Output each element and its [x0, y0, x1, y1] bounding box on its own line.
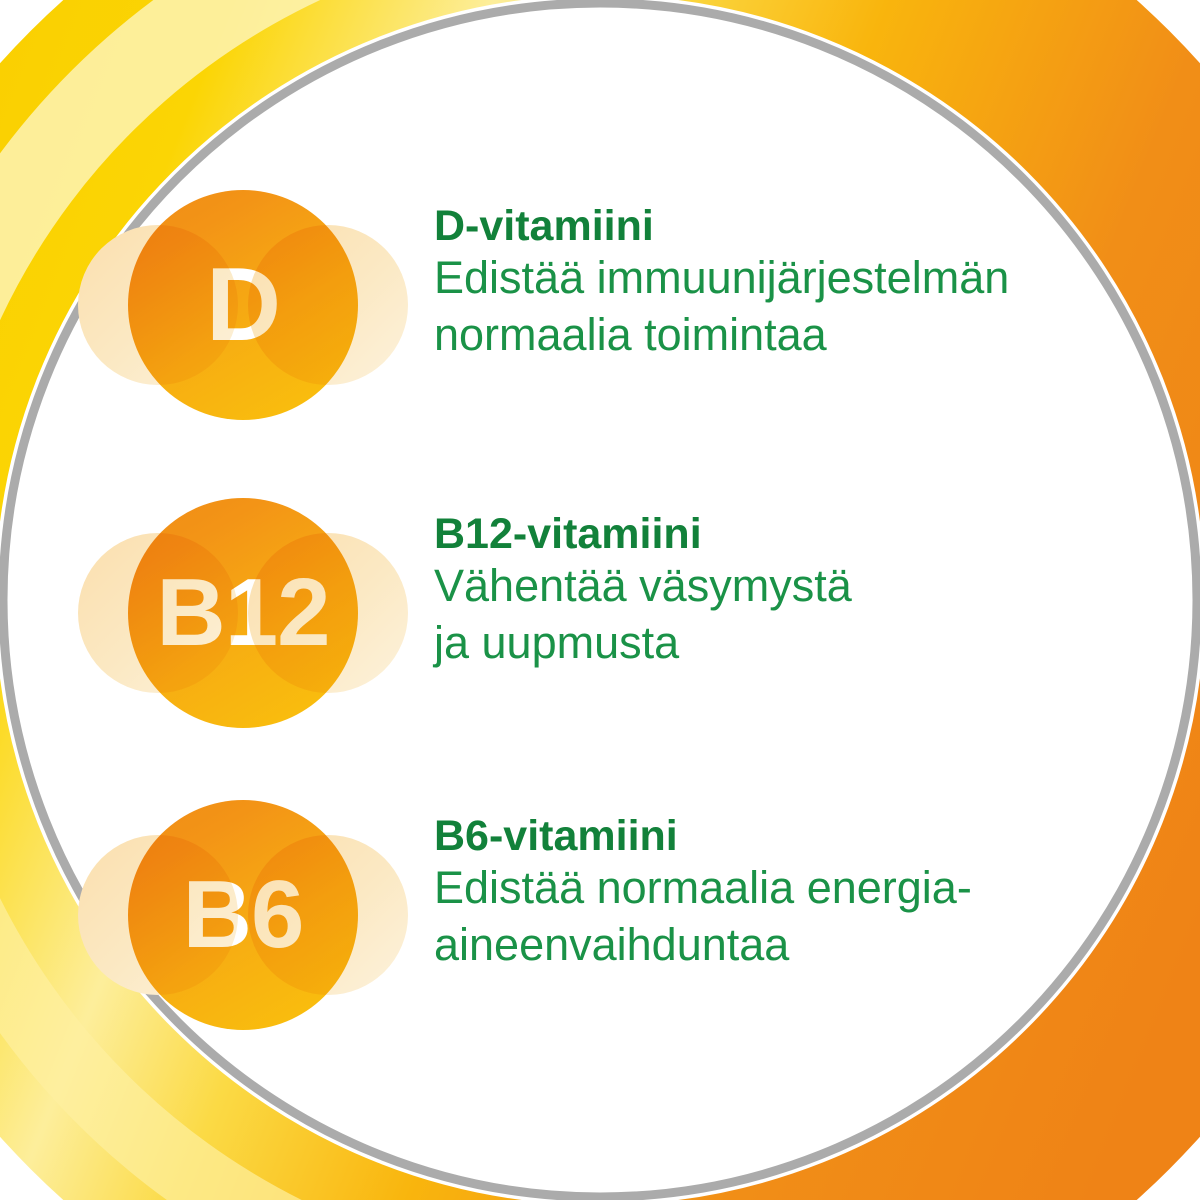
vitamin-benefits-graphic: D D-vitamiini Edistää immuunijärjestelmä…	[0, 0, 1200, 1200]
vitamin-d-badge: D	[78, 190, 408, 420]
benefit-description: Edistää immuunijärjestelmän normaalia to…	[434, 250, 1009, 363]
benefit-title: B12-vitamiini	[434, 510, 852, 558]
benefit-rows: D D-vitamiini Edistää immuunijärjestelmä…	[0, 0, 1200, 1200]
benefit-row-vitamin-b6: B6 B6-vitamiini Edistää normaalia energi…	[78, 800, 972, 1030]
benefit-text-block: D-vitamiini Edistää immuunijärjestelmän …	[434, 190, 1009, 364]
vitamin-b6-badge: B6	[78, 800, 408, 1030]
badge-blob-main-icon: B6	[128, 800, 358, 1030]
benefit-row-vitamin-b12: B12 B12-vitamiini Vähentää väsymystä ja …	[78, 498, 852, 728]
benefit-title: B6-vitamiini	[434, 812, 972, 860]
benefit-description: Vähentää väsymystä ja uupmusta	[434, 558, 852, 671]
badge-label: B12	[156, 565, 329, 661]
benefit-description: Edistää normaalia energia- aineenvaihdun…	[434, 860, 972, 973]
badge-blob-main-icon: D	[128, 190, 358, 420]
benefit-title: D-vitamiini	[434, 202, 1009, 250]
benefit-text-block: B6-vitamiini Edistää normaalia energia- …	[434, 800, 972, 974]
badge-label: B6	[183, 867, 304, 963]
badge-label: D	[206, 253, 280, 357]
benefit-text-block: B12-vitamiini Vähentää väsymystä ja uupm…	[434, 498, 852, 672]
benefit-row-vitamin-d: D D-vitamiini Edistää immuunijärjestelmä…	[78, 190, 1009, 420]
badge-blob-main-icon: B12	[128, 498, 358, 728]
vitamin-b12-badge: B12	[78, 498, 408, 728]
